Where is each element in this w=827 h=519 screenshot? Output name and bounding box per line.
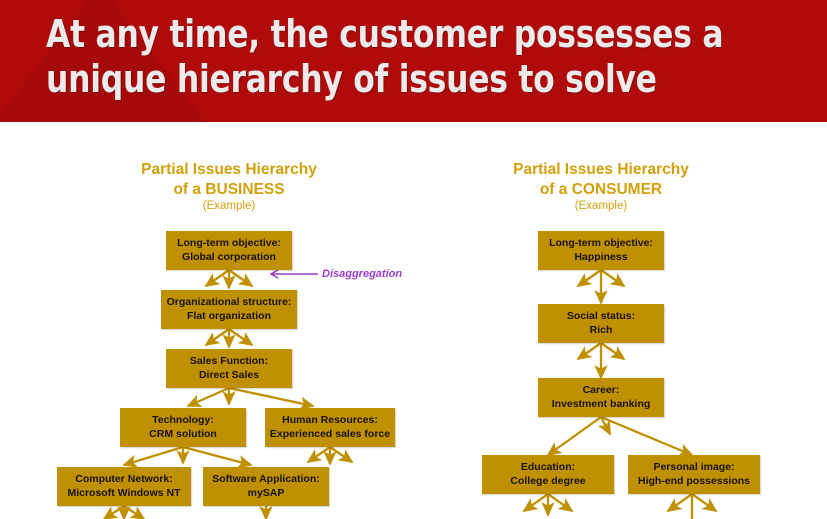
node-biz-long-term-objective[interactable]: Long-term objective: Global corporation [166, 231, 292, 270]
disaggregation-arrow-icon [271, 270, 318, 278]
consumer-column-subheading: (Example) [496, 199, 706, 213]
business-column-heading: Partial Issues Hierarchy of a BUSINESS [124, 160, 334, 200]
node-biz-technology[interactable]: Technology: CRM solution [120, 408, 246, 447]
header-banner: At any time, the customer possesses a un… [0, 0, 827, 122]
node-biz-sales-function[interactable]: Sales Function: Direct Sales [166, 349, 292, 388]
consumer-column-heading: Partial Issues Hierarchy of a CONSUMER [496, 160, 706, 200]
node-con-long-term-objective[interactable]: Long-term objective: Happiness [538, 231, 664, 270]
node-biz-organizational-structure[interactable]: Organizational structure: Flat organizat… [161, 290, 297, 329]
node-biz-computer-network[interactable]: Computer Network: Microsoft Windows NT [57, 467, 191, 506]
node-biz-software-application[interactable]: Software Application: mySAP [203, 467, 329, 506]
node-con-personal-image[interactable]: Personal image: High-end possessions [628, 455, 760, 494]
node-con-career[interactable]: Career: Investment banking [538, 378, 664, 417]
node-con-education[interactable]: Education: College degree [482, 455, 614, 494]
node-con-social-status[interactable]: Social status: Rich [538, 304, 664, 343]
annotation-disaggregation-label: Disaggregation [322, 268, 402, 280]
slide-canvas: At any time, the customer possesses a un… [0, 0, 827, 519]
page-title: At any time, the customer possesses a un… [46, 12, 727, 102]
node-biz-human-resources[interactable]: Human Resources: Experienced sales force [265, 408, 395, 447]
business-column-subheading: (Example) [124, 199, 334, 213]
